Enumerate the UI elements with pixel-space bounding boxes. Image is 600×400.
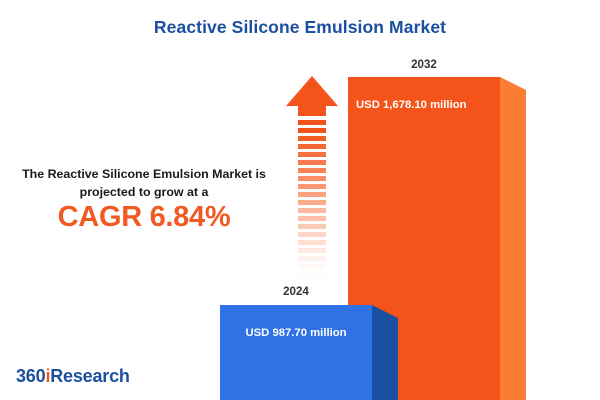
cagr-value: CAGR 6.84% — [18, 201, 270, 234]
page-title: Reactive Silicone Emulsion Market — [0, 17, 600, 38]
brand-logo: 360iResearch — [16, 366, 130, 387]
cagr-caption-text: The Reactive Silicone Emulsion Market is… — [18, 166, 270, 201]
bar-2024-side-face — [372, 318, 398, 400]
logo-suffix: Research — [50, 366, 129, 386]
chart-canvas: Reactive Silicone Emulsion Market The Re… — [0, 0, 600, 400]
bar-2032-year-label: 2032 — [348, 58, 500, 71]
bar-2024-top-face — [220, 305, 372, 318]
bar-2032-top-bevel — [500, 77, 526, 90]
bar-2032-side-face — [500, 90, 526, 400]
bar-2024-top-bevel — [372, 305, 398, 318]
bar-2024-year-label: 2024 — [220, 285, 372, 298]
bar-2032-value-label: USD 1,678.10 million — [356, 99, 508, 111]
bar-2024-value-label: USD 987.70 million — [220, 327, 372, 339]
bar-2032-top-face — [348, 77, 500, 90]
logo-prefix: 360 — [16, 366, 45, 386]
up-arrow-icon — [286, 76, 338, 292]
